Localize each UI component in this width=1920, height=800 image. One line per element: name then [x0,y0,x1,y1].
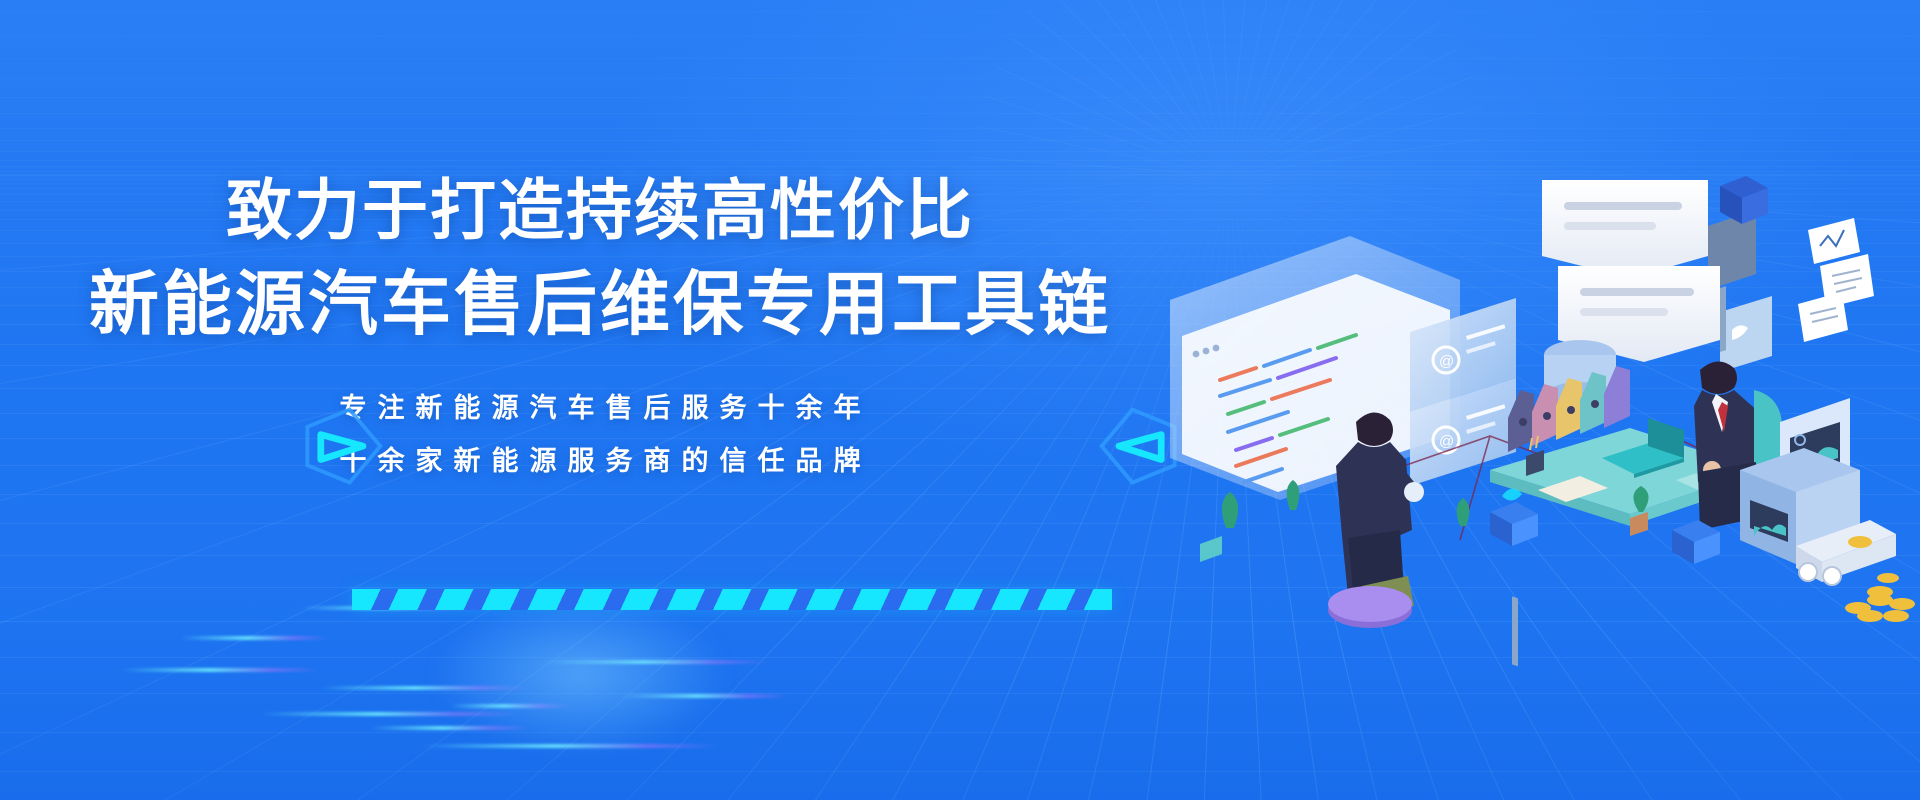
svg-text:@: @ [1439,353,1454,370]
subtitle-line-1: 专注新能源汽车售后服务十余年 [0,382,1200,435]
isometric-business-teamwork-illustration: @ @ [1160,140,1900,560]
copy-block: 致力于打造持续高性价比 新能源汽车售后维保专用工具链 专注新能源汽车售后服务十余… [0,0,1200,800]
diagonal-stripe-bar [352,589,1112,610]
glow-cube [1490,488,1538,546]
svg-text:@: @ [1439,433,1454,450]
subtitle-line-2: 千余家新能源服务商的信任品牌 [0,435,1200,488]
subtitle-block: 专注新能源汽车售后服务十余年 千余家新能源服务商的信任品牌 [0,382,1200,487]
hero-banner: 致力于打造持续高性价比 新能源汽车售后维保专用工具链 专注新能源汽车售后服务十余… [0,0,1920,800]
floating-documents [1798,218,1874,342]
headline-line-2: 新能源汽车售后维保专用工具链 [0,266,1200,343]
play-arrow-right-icon [292,400,388,496]
potted-plants [1200,480,1469,562]
headline-line-1: 致力于打造持续高性价比 [0,174,1200,247]
